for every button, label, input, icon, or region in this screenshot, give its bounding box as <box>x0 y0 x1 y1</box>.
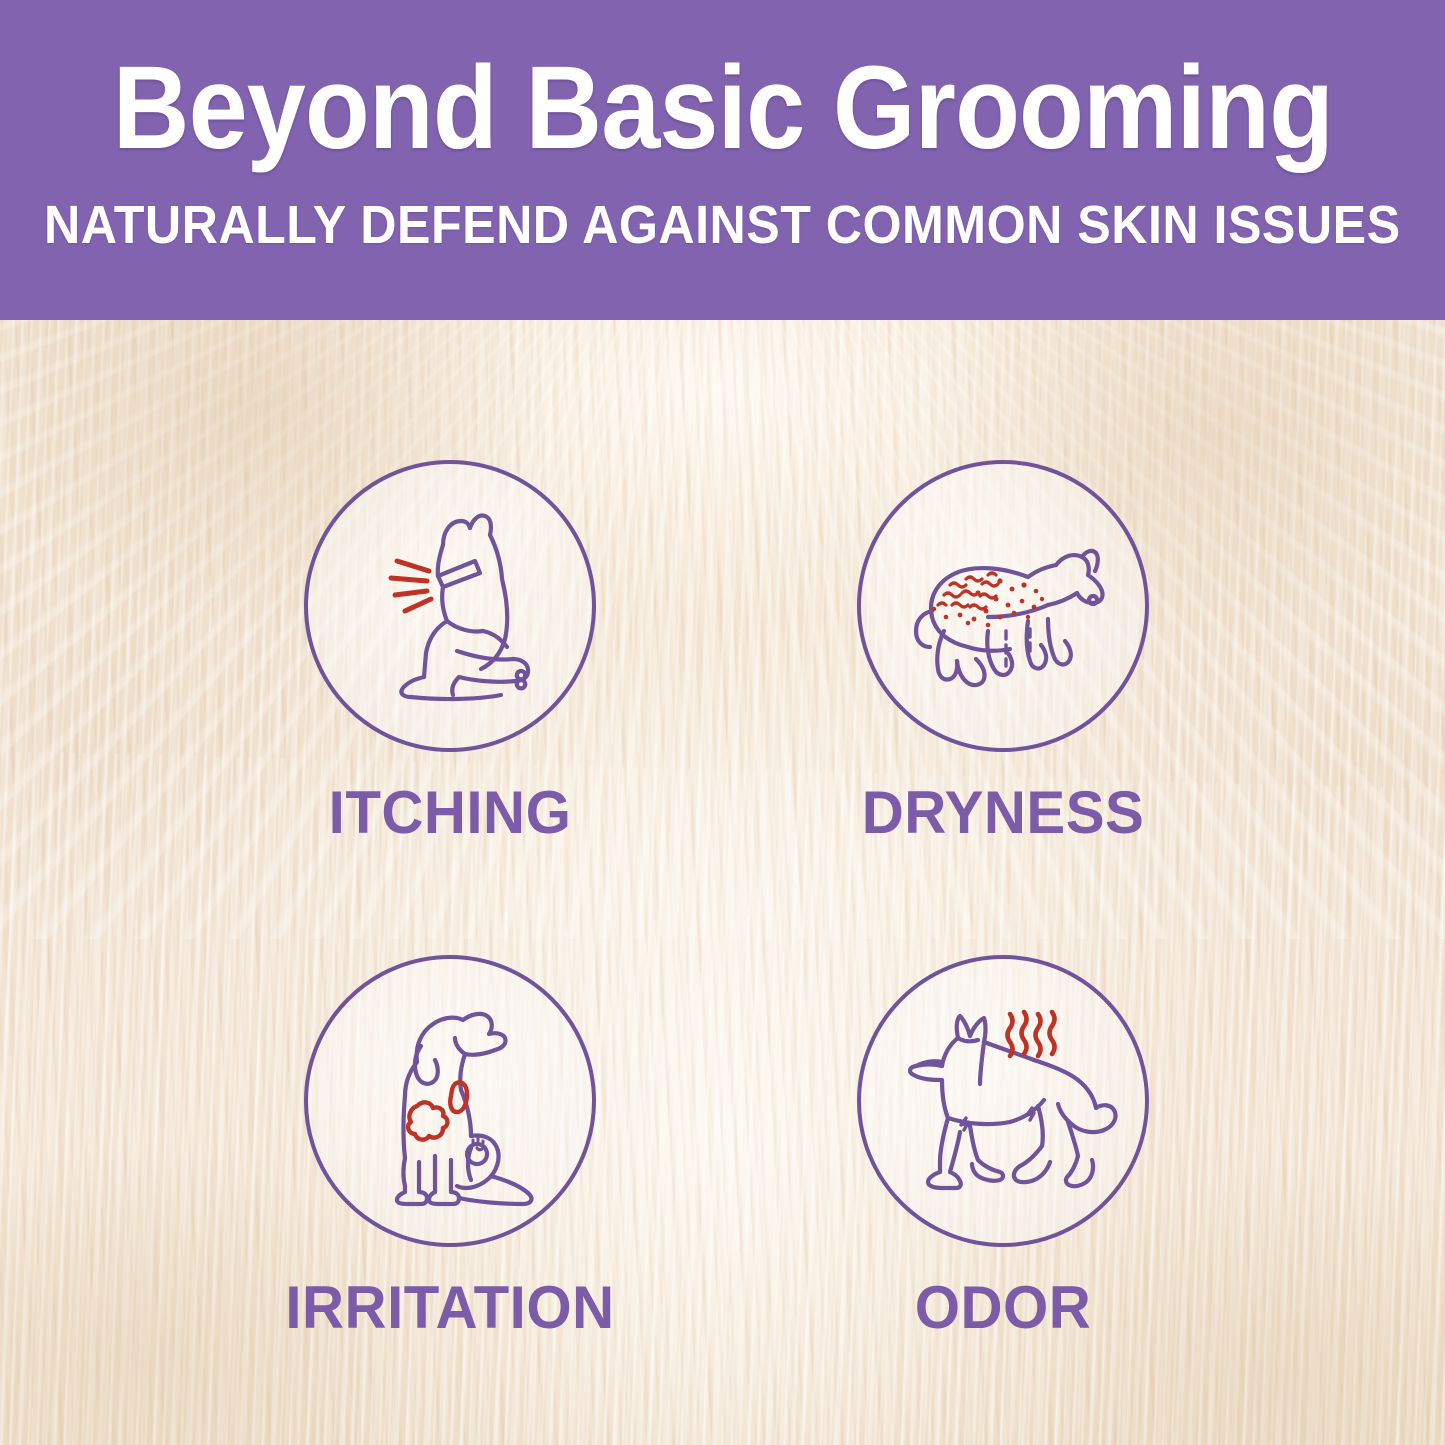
header-banner: Beyond Basic Grooming NATURALLY DEFEND A… <box>0 0 1445 320</box>
benefit-label-dryness: DRYNESS <box>794 778 1211 847</box>
benefits-grid: ITCHING <box>0 320 1445 1445</box>
benefit-label-itching: ITCHING <box>241 778 658 847</box>
dog-irritated-patch-icon <box>325 976 575 1226</box>
odor-wave-lines <box>1008 1012 1055 1056</box>
dog-odor-waves-icon <box>878 976 1128 1226</box>
benefit-item-itching: ITCHING <box>235 460 665 847</box>
benefit-item-dryness: DRYNESS <box>788 460 1218 847</box>
dog-flaky-skin-icon <box>878 481 1128 731</box>
icon-circle-itching <box>304 460 596 752</box>
icon-circle-irritation <box>304 955 596 1247</box>
dog-scratching-icon <box>325 481 575 731</box>
itch-motion-lines <box>391 561 431 611</box>
benefit-item-irritation: IRRITATION <box>235 955 665 1342</box>
icon-circle-odor <box>857 955 1149 1247</box>
irritation-patches <box>408 1082 467 1139</box>
page-title: Beyond Basic Grooming <box>112 48 1332 168</box>
page-subtitle: NATURALLY DEFEND AGAINST COMMON SKIN ISS… <box>44 194 1400 256</box>
benefit-label-irritation: IRRITATION <box>241 1273 658 1342</box>
benefit-label-odor: ODOR <box>794 1273 1211 1342</box>
benefit-item-odor: ODOR <box>788 955 1218 1342</box>
infographic-page: Beyond Basic Grooming NATURALLY DEFEND A… <box>0 0 1445 1445</box>
icon-circle-dryness <box>857 460 1149 752</box>
